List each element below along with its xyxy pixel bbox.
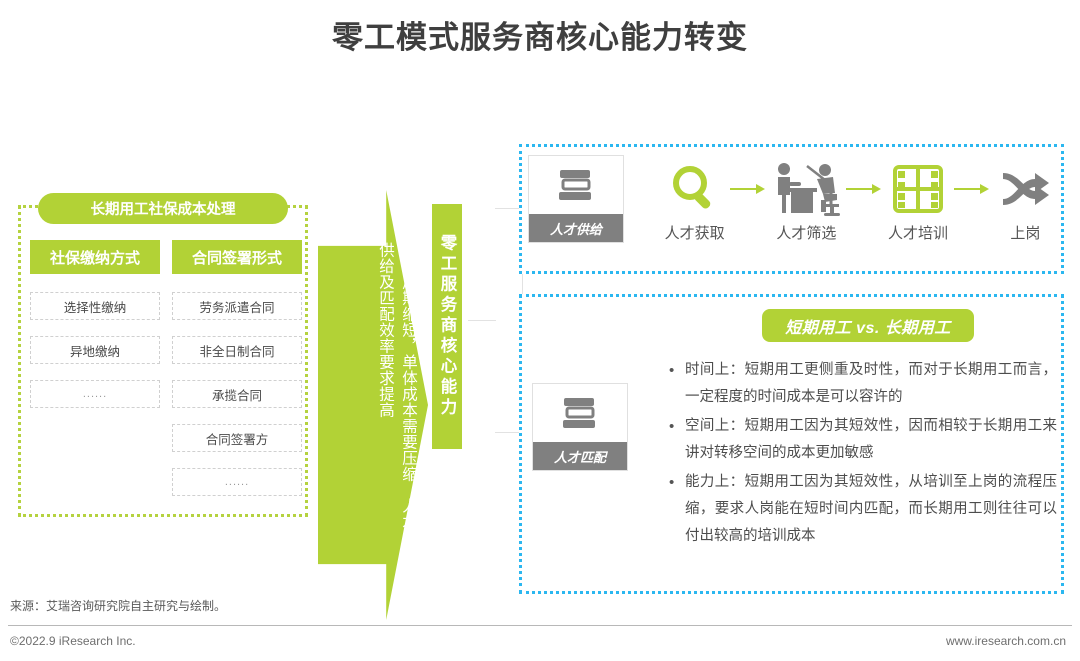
flow-step-label: 人才培训 bbox=[888, 222, 948, 243]
list-item: 合同签署方 bbox=[172, 424, 302, 452]
talent-matching-card: 人才匹配 bbox=[532, 383, 628, 471]
column-body-contract-form: 劳务派遣合同 非全日制合同 承揽合同 合同签署方 ...... bbox=[172, 292, 302, 496]
magnifier-icon bbox=[669, 158, 721, 220]
list-item: • 空间上：短期用工因为其短效性，因而相较于长期用工来讲对转移空间的成本更加敏感 bbox=[669, 413, 1057, 467]
bullet-text: 能力上：短期用工因为其短效性，从培训至上岗的流程压缩，要求人岗能在短时间内匹配，… bbox=[685, 469, 1057, 550]
books-icon bbox=[529, 156, 623, 214]
bullet-marker: • bbox=[669, 469, 685, 550]
column-header-social-insurance: 社保缴纳方式 bbox=[30, 240, 160, 274]
flow-step-train: 人才培训 bbox=[883, 158, 952, 243]
column-body-social-insurance: 选择性缴纳 异地缴纳 ...... bbox=[30, 292, 160, 408]
bullet-marker: • bbox=[669, 413, 685, 467]
slide-canvas: 零工模式服务商核心能力转变 长期用工社保成本处理 社保缴纳方式 合同签署形式 选… bbox=[0, 0, 1080, 661]
interview-icon bbox=[767, 158, 845, 220]
shuffle-arrows-icon bbox=[999, 158, 1051, 220]
talent-flow: 人才获取 bbox=[660, 158, 1060, 263]
list-item: 劳务派遣合同 bbox=[172, 292, 302, 320]
footer-divider bbox=[8, 625, 1072, 626]
list-item: • 能力上：短期用工因为其短效性，从培训至上岗的流程压缩，要求人岗能在短时间内匹… bbox=[669, 469, 1057, 550]
books-icon bbox=[533, 384, 627, 442]
transition-arrow: 用工周期缩短，单体成本需要压缩，人才供给及匹配效率要求提高 bbox=[318, 190, 428, 620]
bracket-stem bbox=[468, 320, 496, 321]
source-note: 来源：艾瑞咨询研究院自主研究与绘制。 bbox=[10, 597, 226, 614]
left-panel-header: 长期用工社保成本处理 bbox=[38, 193, 288, 224]
flow-step-acquire: 人才获取 bbox=[660, 158, 729, 243]
flow-arrow-3-icon bbox=[953, 158, 991, 220]
bullet-text: 空间上：短期用工因为其短效性，因而相较于长期用工来讲对转移空间的成本更加敏感 bbox=[685, 413, 1057, 467]
arrow-label: 用工周期缩短，单体成本需要压缩，人才供给及匹配效率要求提高 bbox=[324, 242, 420, 532]
page-title: 零工模式服务商核心能力转变 bbox=[0, 12, 1080, 57]
card-label: 人才供给 bbox=[529, 214, 623, 242]
left-panel-column-headers: 社保缴纳方式 合同签署形式 bbox=[30, 240, 302, 274]
list-item: 选择性缴纳 bbox=[30, 292, 160, 320]
flow-arrow-1-icon bbox=[729, 158, 767, 220]
list-item: 异地缴纳 bbox=[30, 336, 160, 364]
filmstrip-icon bbox=[892, 158, 944, 220]
list-item: • 时间上：短期用工更侧重及时性，而对于长期用工而言，一定程度的时间成本是可以容… bbox=[669, 357, 1057, 411]
footer-website: www.iresearch.com.cn bbox=[946, 634, 1066, 648]
flow-step-label: 人才获取 bbox=[665, 222, 725, 243]
comparison-badge: 短期用工 vs. 长期用工 bbox=[762, 309, 974, 342]
bullet-text: 时间上：短期用工更侧重及时性，而对于长期用工而言，一定程度的时间成本是可以容许的 bbox=[685, 357, 1057, 411]
comparison-bullet-list: • 时间上：短期用工更侧重及时性，而对于长期用工而言，一定程度的时间成本是可以容… bbox=[669, 357, 1057, 552]
flow-step-label: 人才筛选 bbox=[776, 222, 836, 243]
column-header-contract-form: 合同签署形式 bbox=[172, 240, 302, 274]
flow-step-label: 上岗 bbox=[1010, 222, 1040, 243]
list-item: 承揽合同 bbox=[172, 380, 302, 408]
flow-arrow-2-icon bbox=[845, 158, 883, 220]
flow-step-screen: 人才筛选 bbox=[767, 158, 845, 243]
footer-copyright: ©2022.9 iResearch Inc. bbox=[10, 634, 136, 648]
card-label: 人才匹配 bbox=[533, 442, 627, 470]
talent-supply-card: 人才供给 bbox=[528, 155, 624, 243]
list-item: ...... bbox=[30, 380, 160, 408]
flow-step-onboard: 上岗 bbox=[991, 158, 1060, 243]
list-item: 非全日制合同 bbox=[172, 336, 302, 364]
bullet-marker: • bbox=[669, 357, 685, 411]
list-item: ...... bbox=[172, 468, 302, 496]
core-capability-label: 零工服务商核心能力 bbox=[432, 204, 462, 449]
